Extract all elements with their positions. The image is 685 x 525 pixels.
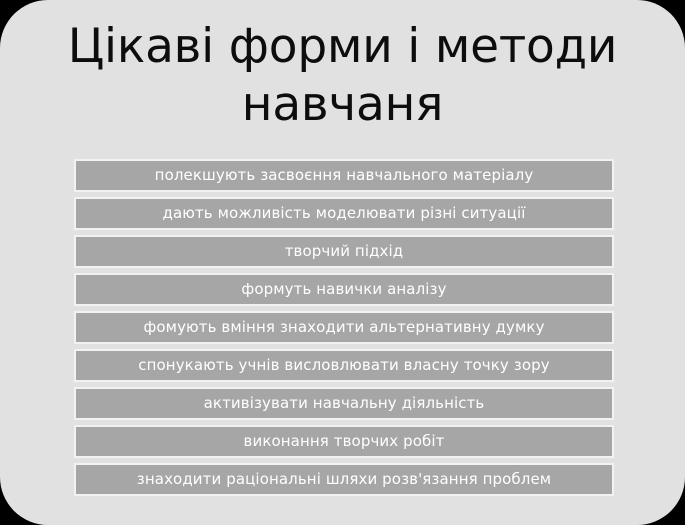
methods-list: полекшують засвоєння навчального матеріа… <box>74 159 614 496</box>
content-panel: Цікаві форми і методи навчаня полекшують… <box>0 0 685 525</box>
list-item-label: дають можливість моделювати різні ситуац… <box>162 205 525 222</box>
list-item[interactable]: полекшують засвоєння навчального матеріа… <box>74 159 614 192</box>
list-item[interactable]: спонукають учнів висловлювати власну точ… <box>74 349 614 382</box>
list-item[interactable]: знаходити раціональні шляхи розв'язання … <box>74 463 614 496</box>
list-item-label: творчий підхід <box>285 243 404 260</box>
list-item-label: активізувати навчальну діяльність <box>204 395 485 412</box>
list-item[interactable]: формуть навички аналізу <box>74 273 614 306</box>
list-item[interactable]: виконання творчих робіт <box>74 425 614 458</box>
list-item-label: фомують вміння знаходити альтернативну д… <box>143 319 544 336</box>
list-item-label: спонукають учнів висловлювати власну точ… <box>138 357 549 374</box>
list-item[interactable]: активізувати навчальну діяльність <box>74 387 614 420</box>
list-item-label: знаходити раціональні шляхи розв'язання … <box>137 471 551 488</box>
list-item-label: формуть навички аналізу <box>241 281 446 298</box>
page-title: Цікаві форми і методи навчаня <box>30 18 655 134</box>
slide-canvas: Цікаві форми і методи навчаня полекшують… <box>0 0 685 525</box>
list-item[interactable]: дають можливість моделювати різні ситуац… <box>74 197 614 230</box>
list-item-label: виконання творчих робіт <box>244 433 445 450</box>
list-item[interactable]: фомують вміння знаходити альтернативну д… <box>74 311 614 344</box>
list-item[interactable]: творчий підхід <box>74 235 614 268</box>
list-item-label: полекшують засвоєння навчального матеріа… <box>155 167 534 184</box>
